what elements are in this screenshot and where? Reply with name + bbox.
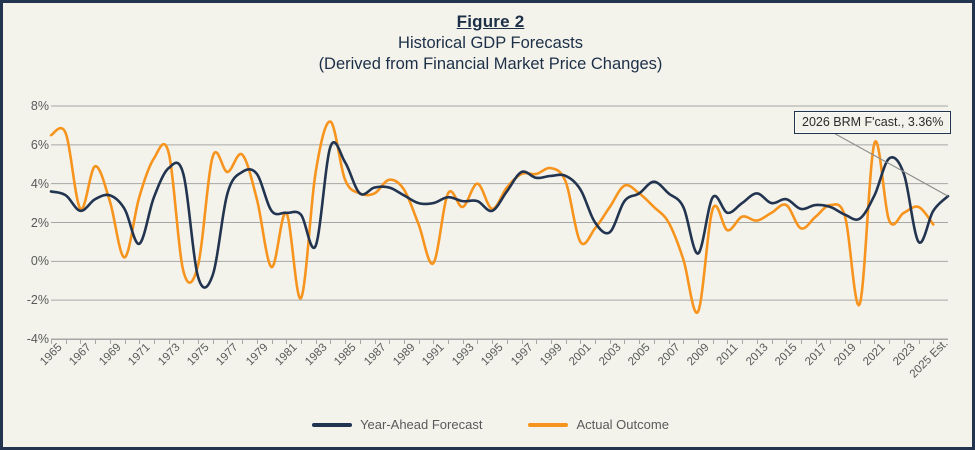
- x-axis-tick-mark: [742, 339, 743, 344]
- x-axis-tick-mark: [492, 339, 493, 344]
- x-axis-line: [51, 339, 948, 340]
- x-axis-tick-label: 1979: [244, 342, 271, 369]
- y-axis-tick-label: 4%: [7, 177, 49, 191]
- plot-area: [51, 106, 948, 339]
- x-axis-tick-mark: [110, 339, 111, 344]
- x-axis-tick-mark: [683, 339, 684, 344]
- x-axis-tick-mark: [419, 339, 420, 344]
- x-axis-tick-label: 1999: [538, 342, 565, 369]
- legend-label: Year-Ahead Forecast: [360, 417, 482, 432]
- x-axis-tick-mark: [610, 339, 611, 344]
- x-axis-tick-mark: [213, 339, 214, 344]
- line-swatch-icon: [312, 423, 352, 427]
- x-axis-tick-mark: [125, 339, 126, 344]
- x-axis-tick-label: 2013: [744, 342, 771, 369]
- x-axis-tick-mark: [580, 339, 581, 344]
- x-axis-tick-mark: [477, 339, 478, 344]
- y-axis-tick-label: -2%: [7, 293, 49, 307]
- x-axis-tick-mark: [757, 339, 758, 344]
- x-axis-tick-label: 2011: [715, 342, 741, 368]
- x-axis-tick-mark: [727, 339, 728, 344]
- x-axis-tick-mark: [463, 339, 464, 344]
- x-axis-tick-mark: [830, 339, 831, 344]
- x-axis-tick-label: 2021: [862, 342, 889, 369]
- x-axis-tick-mark: [198, 339, 199, 344]
- x-axis-tick-mark: [286, 339, 287, 344]
- x-axis-tick-mark: [169, 339, 170, 344]
- x-axis-tick-label: 1977: [215, 342, 242, 369]
- title-block: Figure 2 Historical GDP Forecasts (Deriv…: [3, 11, 975, 75]
- x-axis-tick-mark: [433, 339, 434, 344]
- x-axis-tick-mark: [80, 339, 81, 344]
- chart-title: Historical GDP Forecasts: [3, 33, 975, 54]
- y-axis-tick-label: 0%: [7, 254, 49, 268]
- x-axis-tick-mark: [889, 339, 890, 344]
- line-swatch-icon: [528, 423, 568, 427]
- x-axis-tick-label: 1995: [479, 342, 506, 369]
- x-axis-tick-label: 2017: [803, 342, 830, 369]
- x-axis-tick-label: 1973: [156, 342, 183, 369]
- x-axis-tick-mark: [227, 339, 228, 344]
- x-axis-tick-mark: [816, 339, 817, 344]
- x-axis-tick-label: 1969: [97, 342, 124, 369]
- x-axis-tick-label: 1997: [509, 342, 536, 369]
- x-axis-tick-mark: [786, 339, 787, 344]
- x-axis-tick-mark: [360, 339, 361, 344]
- x-axis-tick-mark: [860, 339, 861, 344]
- x-axis-tick-label: 2003: [597, 342, 624, 369]
- x-axis-tick-mark: [639, 339, 640, 344]
- x-axis-tick-label: 2005: [626, 342, 653, 369]
- x-axis-tick-label: 1981: [273, 342, 300, 369]
- x-axis-tick-label: 1985: [332, 342, 359, 369]
- x-axis-tick-mark: [713, 339, 714, 344]
- y-axis-tick-label: 6%: [7, 138, 49, 152]
- x-axis-tick-label: 2023: [891, 342, 918, 369]
- x-axis-tick-mark: [669, 339, 670, 344]
- x-axis-tick-label: 1967: [68, 342, 95, 369]
- y-axis: 8%6%4%2%0%-2%-4%: [3, 106, 49, 339]
- x-axis-tick-label: 1987: [362, 342, 389, 369]
- x-axis-tick-mark: [507, 339, 508, 344]
- x-axis-tick-mark: [551, 339, 552, 344]
- x-axis-tick-label: 2001: [567, 342, 594, 369]
- x-axis-tick-mark: [698, 339, 699, 344]
- chart-subtitle: (Derived from Financial Market Price Cha…: [3, 54, 975, 75]
- x-axis-tick-label: 2015: [773, 342, 800, 369]
- x-axis-tick-mark: [654, 339, 655, 344]
- chart-figure: Figure 2 Historical GDP Forecasts (Deriv…: [0, 0, 975, 450]
- x-axis-tick-mark: [904, 339, 905, 344]
- x-axis-tick-mark: [330, 339, 331, 344]
- x-axis-tick-mark: [522, 339, 523, 344]
- legend-label: Actual Outcome: [576, 417, 669, 432]
- x-axis-tick-label: 1993: [450, 342, 477, 369]
- x-axis-tick-mark: [801, 339, 802, 344]
- x-axis-tick-mark: [845, 339, 846, 344]
- annotation-callout: 2026 BRM F'cast., 3.36%: [794, 111, 951, 134]
- x-axis-tick-mark: [375, 339, 376, 344]
- x-axis-tick-label: 1991: [420, 342, 447, 369]
- x-axis-tick-label: 2019: [832, 342, 859, 369]
- x-axis-tick-mark: [95, 339, 96, 344]
- x-axis-tick-mark: [316, 339, 317, 344]
- x-axis-tick-mark: [183, 339, 184, 344]
- x-axis-tick-mark: [257, 339, 258, 344]
- x-axis-tick-mark: [624, 339, 625, 344]
- x-axis-tick-mark: [51, 339, 52, 344]
- gridlines: [51, 106, 948, 339]
- series-line-actual-outcome: [51, 122, 933, 313]
- x-axis-tick-label: 1989: [391, 342, 418, 369]
- y-axis-tick-label: 8%: [7, 99, 49, 113]
- series-line-year-ahead-forecast: [51, 142, 948, 287]
- x-axis-tick-mark: [242, 339, 243, 344]
- x-axis-tick-mark: [874, 339, 875, 344]
- y-axis-tick-label: -4%: [7, 332, 49, 346]
- x-axis-tick-mark: [566, 339, 567, 344]
- x-axis-tick-mark: [536, 339, 537, 344]
- x-axis-tick-mark: [919, 339, 920, 344]
- plot-svg: [51, 106, 948, 339]
- x-axis-tick-mark: [595, 339, 596, 344]
- legend: Year-Ahead Forecast Actual Outcome: [3, 417, 975, 432]
- x-axis-tick-label: 2007: [656, 342, 683, 369]
- legend-item-actual-outcome[interactable]: Actual Outcome: [528, 417, 669, 432]
- x-axis-tick-mark: [772, 339, 773, 344]
- x-axis-tick-label: 1983: [303, 342, 330, 369]
- legend-item-year-ahead-forecast[interactable]: Year-Ahead Forecast: [312, 417, 482, 432]
- x-axis-tick-mark: [272, 339, 273, 344]
- x-axis-tick-mark: [345, 339, 346, 344]
- x-axis-tick-label: 1975: [185, 342, 212, 369]
- x-axis-tick-mark: [301, 339, 302, 344]
- x-axis-tick-mark: [66, 339, 67, 344]
- y-axis-tick-label: 2%: [7, 216, 49, 230]
- x-axis-tick-mark: [139, 339, 140, 344]
- figure-label: Figure 2: [3, 11, 975, 33]
- x-axis-tick-label: 1971: [126, 342, 153, 369]
- x-axis-tick-mark: [404, 339, 405, 344]
- x-axis-tick-mark: [154, 339, 155, 344]
- x-axis-tick-mark: [933, 339, 934, 344]
- x-axis-tick-label: 2009: [685, 342, 712, 369]
- x-axis-tick-mark: [448, 339, 449, 344]
- x-axis-tick-label: 2025 Est.: [908, 338, 951, 381]
- x-axis-tick-mark: [389, 339, 390, 344]
